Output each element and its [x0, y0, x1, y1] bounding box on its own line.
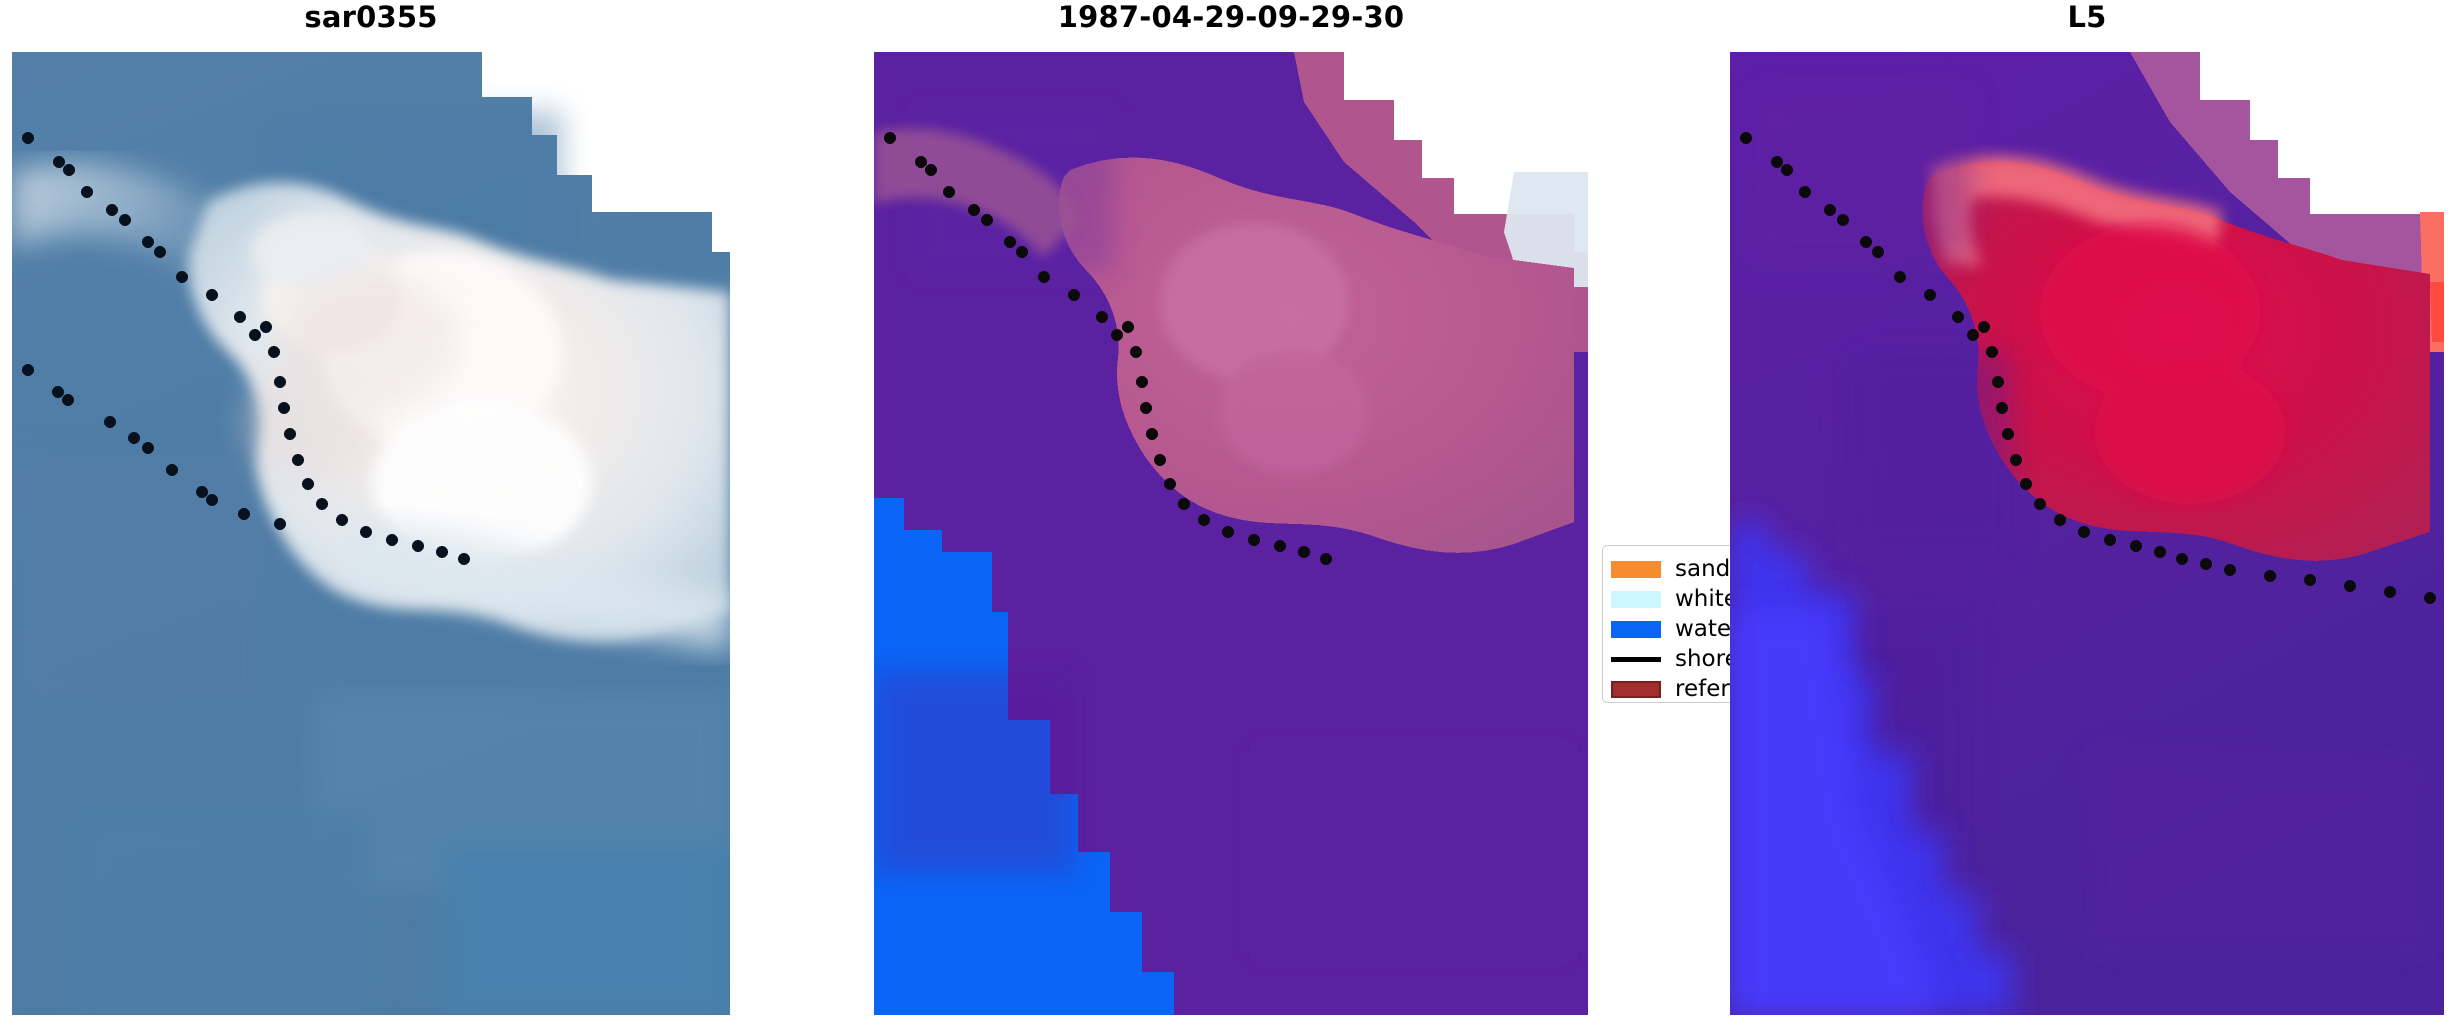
- panel-l5: L5: [1730, 0, 2444, 1015]
- whitewater-swatch: [1611, 591, 1661, 608]
- panel-sar0355: sar0355: [12, 0, 730, 1015]
- figure-canvas: sar0355: [0, 0, 2460, 1031]
- panel-title-l5: L5: [1730, 0, 2444, 34]
- reference-swatch: [1611, 681, 1661, 698]
- l5-raster-image: [1730, 52, 2444, 1015]
- sar-raster-image: [12, 52, 730, 1015]
- sand-swatch: [1611, 561, 1661, 578]
- classified-raster-image: [874, 52, 1588, 1015]
- axes-sar0355[interactable]: [12, 52, 730, 1015]
- panel-classified: 1987-04-29-09-29-30: [874, 0, 1588, 1015]
- legend-label-sand: sand: [1675, 556, 1730, 582]
- panel-title-classified: 1987-04-29-09-29-30: [874, 0, 1588, 34]
- water-swatch: [1611, 621, 1661, 638]
- axes-l5[interactable]: [1730, 52, 2444, 1015]
- axes-classified[interactable]: [874, 52, 1588, 1015]
- shoreline-swatch: [1611, 657, 1661, 662]
- panel-title-sar0355: sar0355: [12, 0, 730, 34]
